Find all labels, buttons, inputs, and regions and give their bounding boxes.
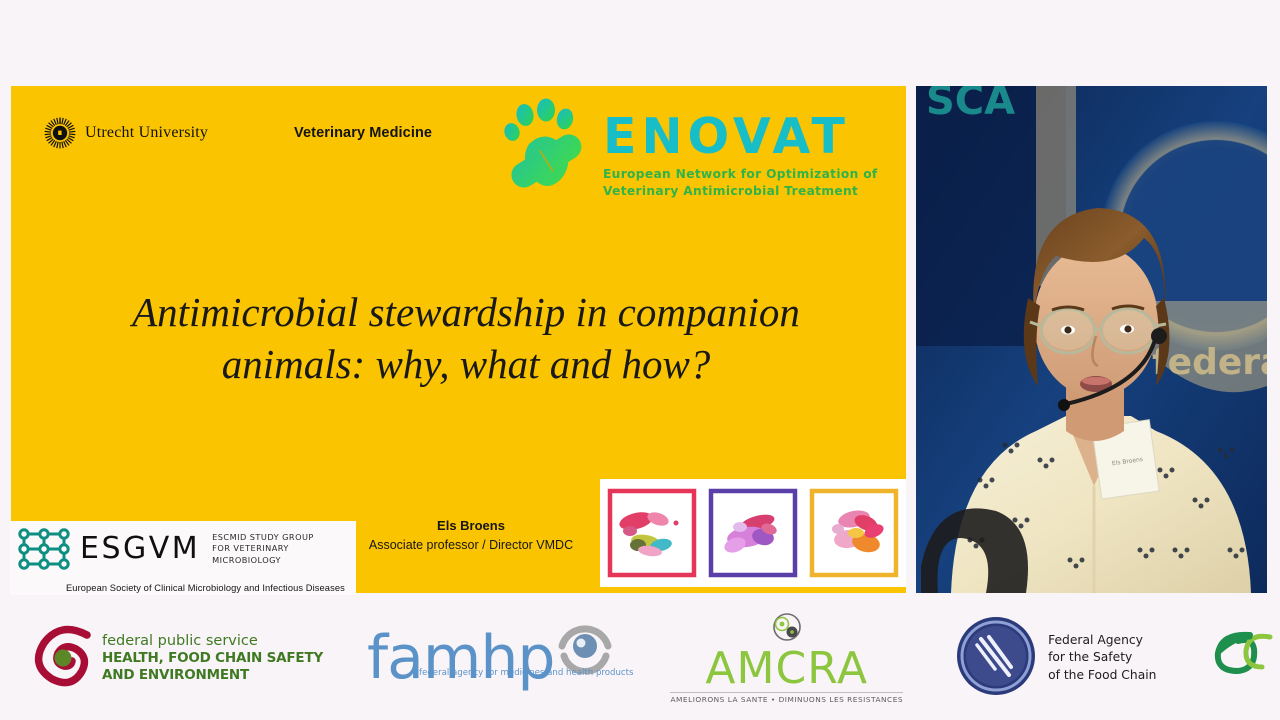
- slide-title-line1: Antimicrobial stewardship in companion: [71, 286, 861, 338]
- fasfc-line2: for the Safety: [1048, 649, 1156, 666]
- sponsor-logo-bar: federal public service HEALTH, FOOD CHAI…: [0, 596, 1280, 720]
- enovat-wordmark: ENOVAT: [603, 114, 878, 161]
- amcra-wordmark: AMCRA: [705, 649, 868, 689]
- fasfc-line1: Federal Agency: [1048, 632, 1156, 649]
- enovat-tagline-line1: European Network for Optimization of: [603, 166, 878, 183]
- painting-strip: [600, 479, 906, 587]
- abstract-painting-orange: [808, 487, 900, 579]
- slide-title: Antimicrobial stewardship in companion a…: [71, 286, 861, 391]
- presentation-stage: Utrecht University Veterinary Medicine: [0, 0, 1280, 720]
- presentation-slide: Utrecht University Veterinary Medicine: [11, 86, 906, 593]
- enovat-logo: ENOVAT European Network for Optimization…: [499, 98, 878, 200]
- fasfc-line3: of the Food Chain: [1048, 667, 1156, 684]
- abstract-painting-purple: [707, 487, 799, 579]
- speaker-video-feed[interactable]: SCA federa Els Broens: [916, 86, 1267, 593]
- fps-line3: AND ENVIRONMENT: [102, 667, 323, 683]
- fps-line1: federal public service: [102, 633, 323, 651]
- esgvm-logo-card: ESGVM ESCMID STUDY GROUP FOR VETERINARY …: [10, 521, 356, 595]
- esgvm-descriptor-line2: FOR VETERINARY: [212, 543, 314, 555]
- esgvm-network-icon: [14, 525, 74, 573]
- utrecht-sun-emblem-icon: [44, 117, 76, 149]
- esgvm-footer: European Society of Clinical Microbiolog…: [66, 583, 345, 593]
- amcra-tagline: AMELIORONS LA SANTE • DIMINUONS LES RESI…: [670, 692, 903, 704]
- fps-line2: HEALTH, FOOD CHAIN SAFETY: [102, 650, 323, 666]
- esgvm-acronym: ESGVM: [80, 534, 200, 564]
- esgvm-descriptor-line3: MICROBIOLOGY: [212, 555, 314, 567]
- fps-swirl-icon: [32, 625, 94, 692]
- svg-text:federa: federa: [1152, 342, 1267, 383]
- speaker-block: Els Broens Associate professor / Directo…: [311, 516, 631, 554]
- paw-with-pill-icon: [499, 98, 595, 198]
- utrecht-university-name: Utrecht University: [85, 124, 208, 142]
- faculty-label: Veterinary Medicine: [294, 125, 432, 141]
- speaker-name: Els Broens: [311, 516, 631, 536]
- slide-title-line2: animals: why, what and how?: [71, 338, 861, 390]
- enovat-tagline-line2: Veterinary Antimicrobial Treatment: [603, 183, 878, 200]
- famhp-tagline: federal agency for medicines and health …: [419, 668, 633, 678]
- svg-text:SCA: SCA: [926, 86, 1015, 124]
- logo-famhp: famhp federal agency for medicines and h…: [367, 616, 614, 701]
- utrecht-university-logo: Utrecht University: [44, 117, 208, 149]
- logo-federal-public-service: federal public service HEALTH, FOOD CHAI…: [32, 625, 323, 692]
- esgvm-descriptor-line1: ESCMID STUDY GROUP: [212, 532, 314, 544]
- sciensano-leaf-icon: [1208, 627, 1280, 690]
- logo-fasfc: Federal Agency for the Safety of the Foo…: [955, 615, 1156, 702]
- logo-amcra: AMCRA AMELIORONS LA SANTE • DIMINUONS LE…: [670, 612, 903, 703]
- logo-sciensano: sciensano: [1208, 627, 1280, 690]
- abstract-painting-red: [606, 487, 698, 579]
- fasfc-cutlery-icon: [955, 615, 1037, 702]
- speaker-role: Associate professor / Director VMDC: [311, 536, 631, 555]
